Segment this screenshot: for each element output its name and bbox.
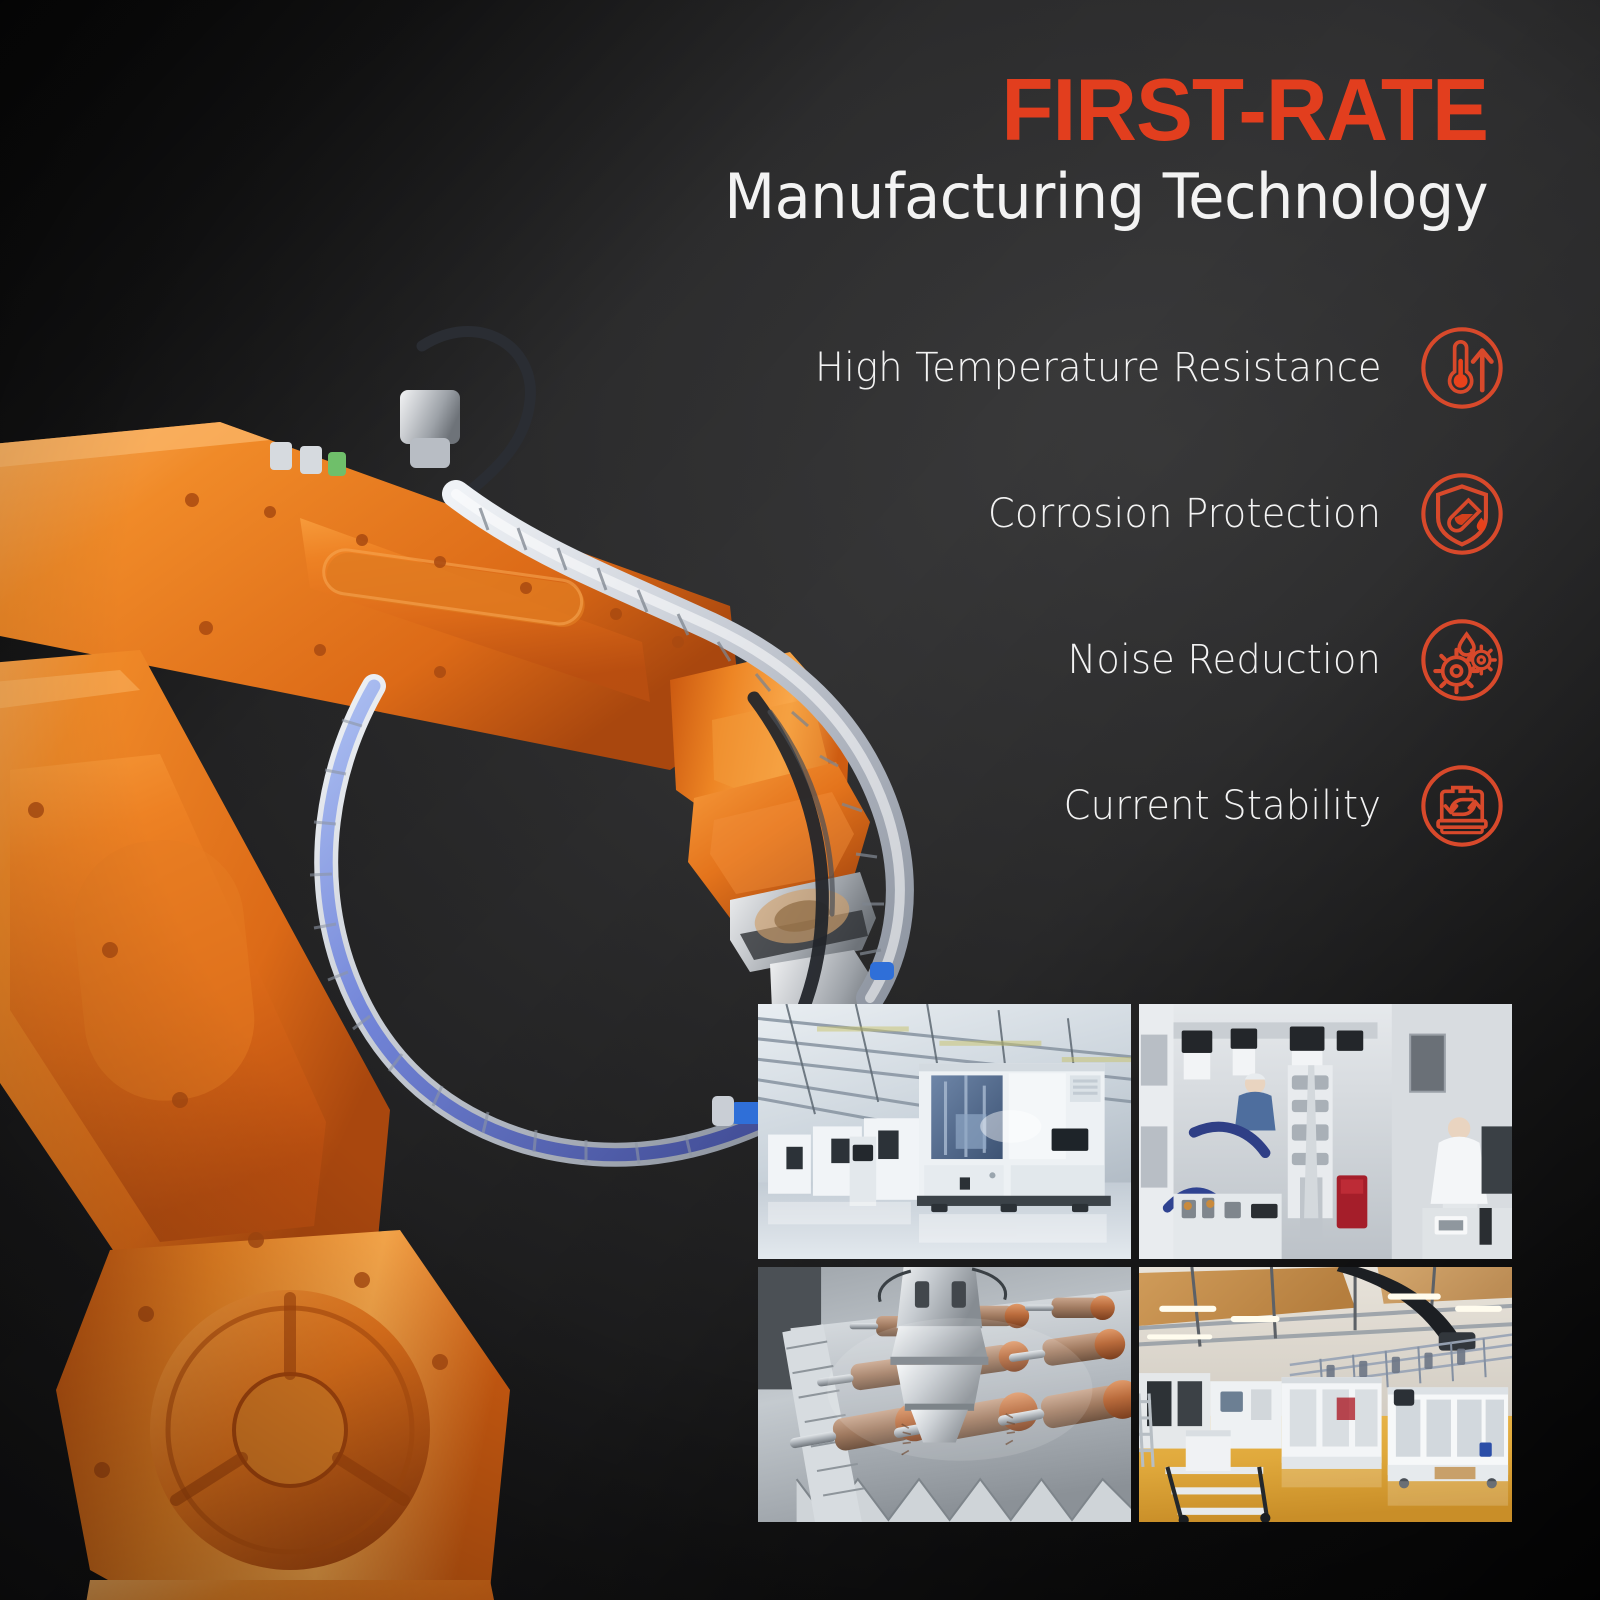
feature-list: High Temperature Resistance Corrosion Pr… bbox=[888, 318, 1508, 902]
feature-label: Current Stability bbox=[1064, 783, 1416, 829]
shield-test-tube-icon bbox=[1416, 468, 1508, 560]
feature-item-high-temperature-resistance[interactable]: High Temperature Resistance bbox=[888, 318, 1508, 418]
page-subtitle: Manufacturing Technology bbox=[633, 162, 1488, 231]
thermometer-arrow-up-icon bbox=[1416, 322, 1508, 414]
poster-root: FIRST-RATE Manufacturing Technology High… bbox=[0, 0, 1600, 1600]
laboratory-assembly-station-photo bbox=[1139, 1004, 1512, 1259]
headline-block: FIRST-RATE Manufacturing Technology bbox=[588, 66, 1488, 231]
feature-item-current-stability[interactable]: Current Stability bbox=[888, 756, 1508, 856]
gears-oil-droplet-icon bbox=[1416, 614, 1508, 706]
clean-room-production-line-photo bbox=[758, 1004, 1131, 1259]
feature-label: Corrosion Protection bbox=[988, 491, 1416, 537]
motor-armature-tray-photo bbox=[758, 1267, 1131, 1522]
page-title: FIRST-RATE bbox=[615, 66, 1488, 154]
factory-floor-overview-photo bbox=[1139, 1267, 1512, 1522]
feature-label: High Temperature Resistance bbox=[815, 345, 1416, 391]
feature-item-noise-reduction[interactable]: Noise Reduction bbox=[888, 610, 1508, 710]
feature-item-corrosion-protection[interactable]: Corrosion Protection bbox=[888, 464, 1508, 564]
photo-grid bbox=[758, 1004, 1512, 1522]
battery-cycle-icon bbox=[1416, 760, 1508, 852]
feature-label: Noise Reduction bbox=[1068, 637, 1416, 683]
